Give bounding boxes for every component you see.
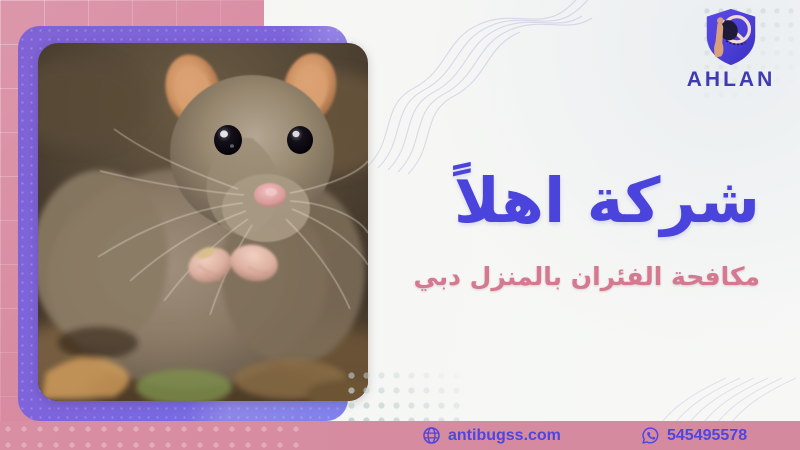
poster-canvas: AHLAN شركة اهلاً مكافحة الفئران بالمنزل …: [0, 0, 800, 450]
whatsapp-icon: [641, 426, 660, 445]
whatsapp-label: 545495578: [667, 427, 747, 445]
dot-grid-lower-left: [344, 368, 468, 424]
footer-dot-texture: [0, 421, 300, 450]
page-subtitle: مكافحة الفئران بالمنزل دبي: [340, 262, 760, 292]
rat-photo: [38, 43, 368, 401]
shield-pest-control-icon: [700, 6, 762, 68]
brand-logo[interactable]: AHLAN: [678, 6, 784, 98]
page-title: شركة اهلاً: [340, 168, 760, 233]
website-label: antibugss.com: [448, 427, 561, 445]
whatsapp-link[interactable]: 545495578: [641, 426, 747, 445]
globe-icon: [422, 426, 441, 445]
website-link[interactable]: antibugss.com: [422, 426, 561, 445]
footer-bar: antibugss.com 545495578: [0, 421, 800, 450]
brand-wordmark: AHLAN: [678, 69, 784, 90]
